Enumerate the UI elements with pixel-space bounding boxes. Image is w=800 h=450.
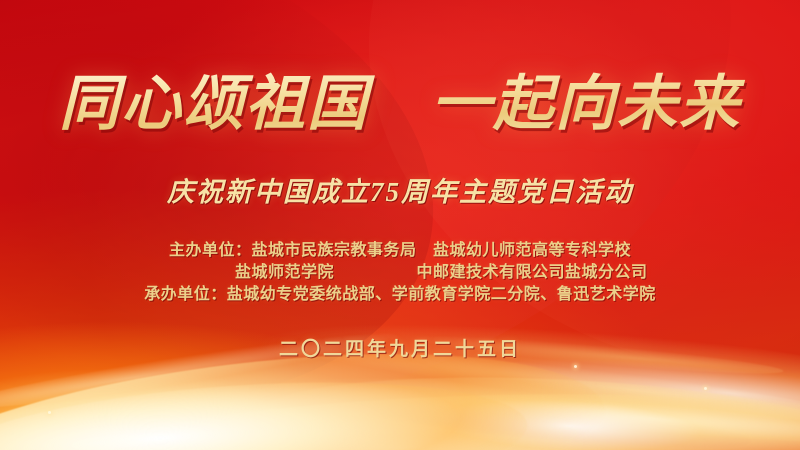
organizer-block: 主办单位：盐城市民族宗教事务局 盐城幼儿师范高等专科学校 盐城师范学院 中邮建技… <box>0 240 800 306</box>
organizer-line-host: 主办单位：盐城市民族宗教事务局 盐城幼儿师范高等专科学校 <box>0 240 800 262</box>
poster-main-title: 同心颂祖国 一起向未来 <box>0 68 800 140</box>
text-layer: 同心颂祖国 一起向未来 庆祝新中国成立75周年主题党日活动 主办单位：盐城市民族… <box>0 0 800 450</box>
poster-subtitle: 庆祝新中国成立75周年主题党日活动 <box>0 176 800 208</box>
poster-date: 二〇二四年九月二十五日 <box>0 338 800 362</box>
organizer-line-host-cont: 盐城师范学院 中邮建技术有限公司盐城分公司 <box>0 262 800 284</box>
organizer-line-coordinator: 承办单位：盐城幼专党委统战部、学前教育学院二分院、鲁迅艺术学院 <box>0 284 800 306</box>
event-poster: 同心颂祖国 一起向未来 庆祝新中国成立75周年主题党日活动 主办单位：盐城市民族… <box>0 0 800 450</box>
